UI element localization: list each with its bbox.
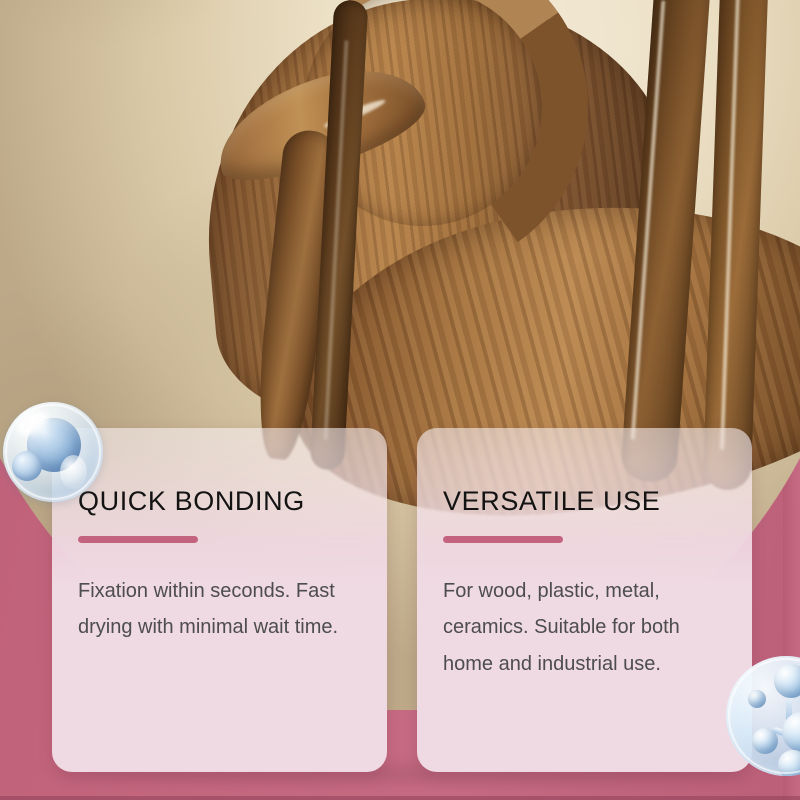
chair-arm-arc	[232, 0, 614, 298]
feature-card-quick-bonding[interactable]: QUICK BONDING Fixation within seconds. F…	[52, 428, 387, 772]
chair-front-leg	[251, 128, 339, 462]
chair-right-stile	[620, 0, 712, 483]
product-feature-banner: QUICK BONDING Fixation within seconds. F…	[0, 0, 800, 800]
chair-back-spindle	[310, 0, 369, 471]
pink-bottom-edge-strip	[0, 796, 800, 800]
card-accent-rule	[443, 536, 563, 543]
feature-card-versatile-use[interactable]: VERSATILE USE For wood, plastic, metal, …	[417, 428, 752, 772]
card-body-text: For wood, plastic, metal, ceramics. Suit…	[443, 573, 726, 682]
droplet-rim	[5, 404, 101, 500]
wood-highlight-line-a	[631, 0, 666, 439]
chair-armrest-tip	[204, 51, 434, 196]
wood-highlight-line-c	[324, 40, 349, 440]
wood-highlight-line-b	[720, 0, 740, 450]
card-accent-rule	[78, 536, 198, 543]
chair-right-stile-outer	[703, 0, 770, 491]
card-title: VERSATILE USE	[443, 488, 726, 515]
card-title: QUICK BONDING	[78, 488, 361, 515]
glue-droplet-bubble-icon	[3, 402, 103, 502]
chair-crest-rail	[189, 0, 694, 438]
card-body-text: Fixation within seconds. Fast drying wit…	[78, 573, 361, 646]
feature-card-row: QUICK BONDING Fixation within seconds. F…	[52, 428, 752, 772]
